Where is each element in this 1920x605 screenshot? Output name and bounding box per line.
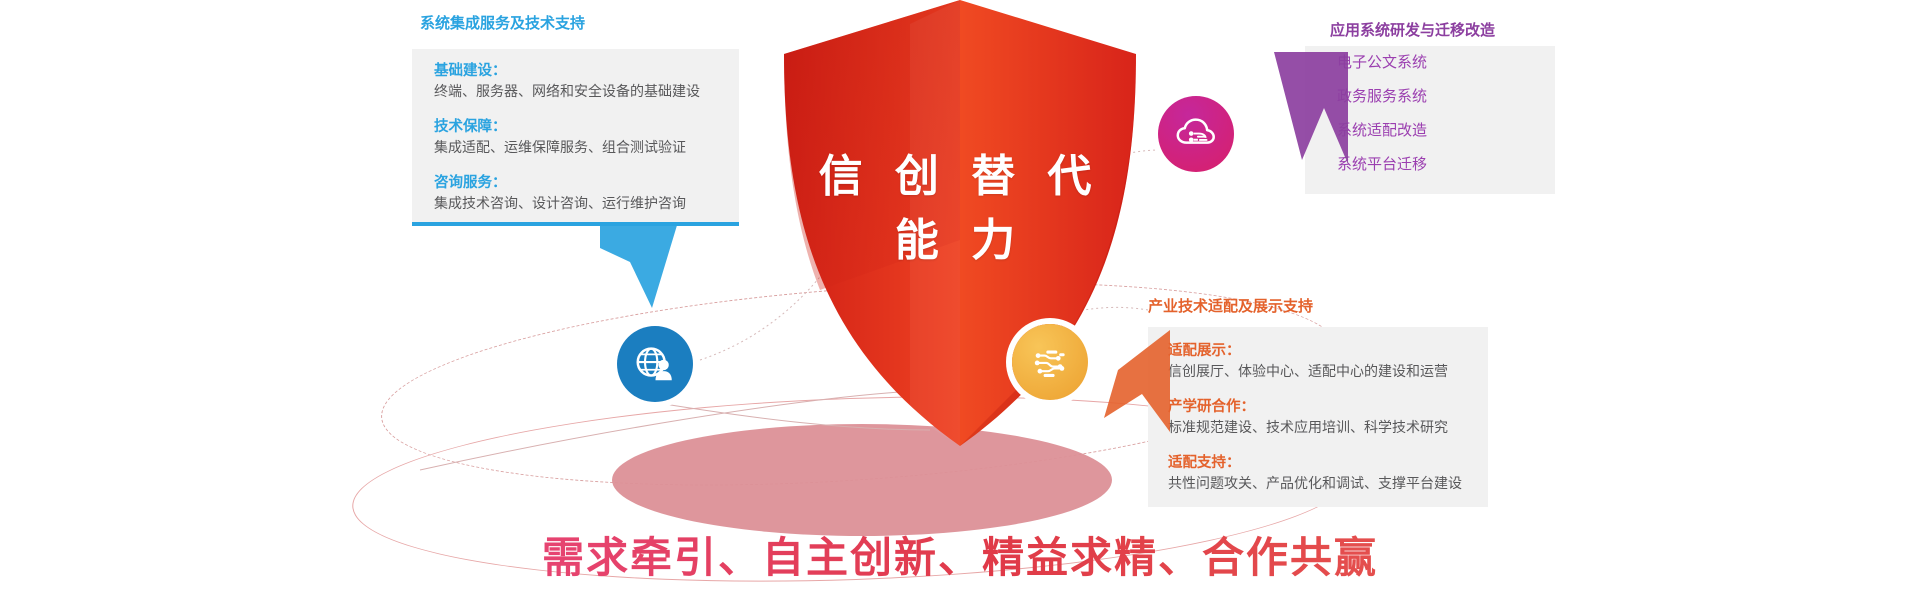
panel-bottom-right-item-0-value: 信创展厅、体验中心、适配中心的建设和运营 [1168, 361, 1480, 382]
panel-left-title: 系统集成服务及技术支持 [420, 12, 585, 33]
panel-bottom-right-item-2-value: 共性问题攻关、产品优化和调试、支撑平台建设 [1168, 473, 1480, 494]
cloud-tech-icon [1158, 96, 1234, 172]
circuit-chip-icon [1012, 324, 1088, 400]
shield-title: 信 创 替 代 能 力 [770, 145, 1150, 273]
panel-bottom-right-title: 产业技术适配及展示支持 [1148, 295, 1313, 316]
panel-left-item-2-value: 集成技术咨询、设计咨询、运行维护咨询 [434, 193, 729, 214]
panel-bottom-right-item-1-value: 标准规范建设、技术应用培训、科学技术研究 [1168, 417, 1480, 438]
panel-left: 基础建设： 终端、服务器、网络和安全设备的基础建设 技术保障： 集成适配、运维保… [412, 49, 739, 225]
panel-bottom-right: 适配展示： 信创展厅、体验中心、适配中心的建设和运营 产学研合作： 标准规范建设… [1148, 327, 1488, 507]
shield-title-line2: 能 力 [770, 209, 1150, 273]
panel-right-title: 应用系统研发与迁移改造 [1330, 19, 1495, 40]
bottom-slogan: 需求牵引、自主创新、精益求精、合作共赢 [0, 524, 1920, 585]
globe-user-icon [617, 326, 693, 402]
infographic-canvas: 信 创 替 代 能 力 系统集成服务及技术支持 基础建设： 终端、服务器、网络和… [0, 0, 1920, 605]
panel-left-item-1-value: 集成适配、运维保障服务、组合测试验证 [434, 137, 729, 158]
panel-bottom-right-item-0-label: 适配展示： [1168, 341, 1480, 361]
panel-right-arrow [1228, 52, 1348, 177]
panel-bottom-right-item-2-label: 适配支持： [1168, 453, 1480, 473]
panel-left-arrow [600, 222, 760, 342]
panel-left-item-0-value: 终端、服务器、网络和安全设备的基础建设 [434, 81, 729, 102]
shield-title-line1: 信 创 替 代 [770, 145, 1150, 209]
panel-left-item-0-label: 基础建设： [434, 61, 729, 81]
panel-bottom-right-item-1-label: 产学研合作： [1168, 397, 1480, 417]
panel-left-item-1-label: 技术保障： [434, 117, 729, 137]
panel-left-item-2-label: 咨询服务： [434, 173, 729, 193]
